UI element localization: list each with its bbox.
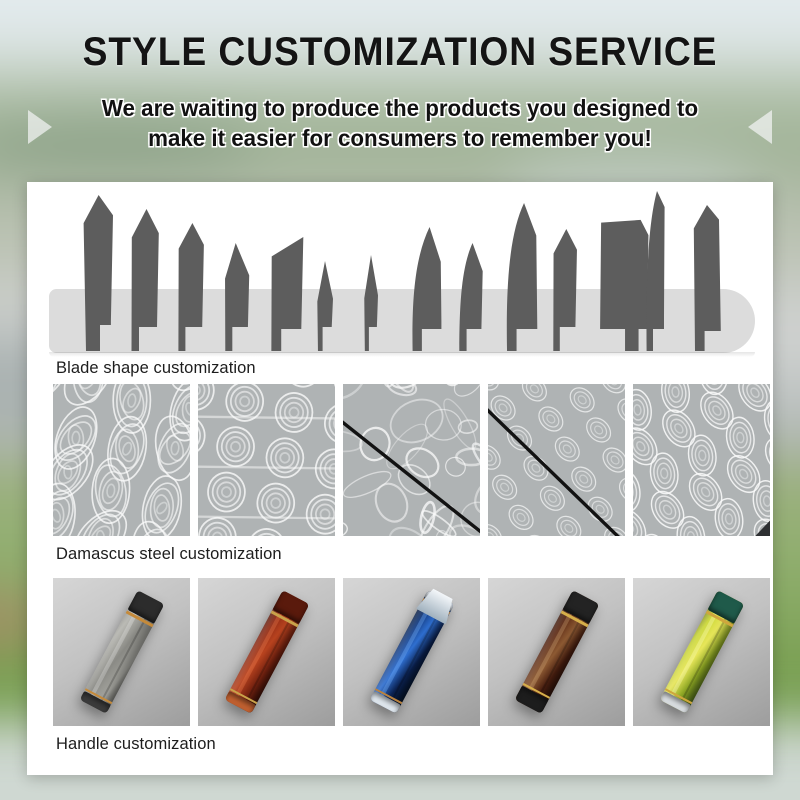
blade-shape[interactable] <box>645 191 665 351</box>
blade-shape[interactable] <box>598 213 650 351</box>
damascus-section-caption: Damascus steel customization <box>27 545 282 564</box>
blade-shape-section: Blade shape customization <box>27 182 773 378</box>
blade-shape[interactable] <box>177 223 205 351</box>
blade-shape[interactable] <box>692 205 722 351</box>
handle-tile-row <box>53 578 770 726</box>
blade-stage <box>49 190 755 353</box>
blade-section-caption: Blade shape customization <box>27 359 256 378</box>
damascus-dense-oval-rows-pattern[interactable] <box>633 384 770 536</box>
blade-shape[interactable] <box>505 203 539 351</box>
damascus-tile-row <box>53 384 770 536</box>
content-card: Blade shape customization <box>27 182 773 775</box>
handle-section: Handle customization <box>27 572 773 772</box>
damascus-steel-section: Damascus steel customization <box>27 378 773 572</box>
blade-shape[interactable] <box>130 209 160 351</box>
handle-dark-rosewood-brass-ring[interactable] <box>488 578 625 726</box>
blade-shape[interactable] <box>317 261 333 351</box>
damascus-swirl-diagonal-pattern[interactable] <box>343 384 480 536</box>
handle-grey-wood-black-cap[interactable] <box>53 578 190 726</box>
page-title: STYLE CUSTOMIZATION SERVICE <box>28 30 772 75</box>
play-triangle-right-icon <box>28 110 52 144</box>
handle-blue-swirl-resin-bolster[interactable] <box>343 578 480 726</box>
handle-section-caption: Handle customization <box>27 735 216 754</box>
damascus-raindrop-oval-pattern[interactable] <box>53 384 190 536</box>
play-triangle-left-icon <box>748 110 772 144</box>
page-subtitle: We are waiting to produce the products y… <box>77 93 723 153</box>
blade-shape[interactable] <box>364 255 378 351</box>
blade-shape[interactable] <box>270 237 304 351</box>
blade-shape[interactable] <box>224 243 250 351</box>
header: STYLE CUSTOMIZATION SERVICE We are waiti… <box>0 0 800 180</box>
damascus-concentric-circles-pattern[interactable] <box>198 384 335 536</box>
blade-shape[interactable] <box>458 243 484 351</box>
blade-shape[interactable] <box>83 195 113 351</box>
blade-shape[interactable] <box>411 227 443 351</box>
handle-red-burl-resin[interactable] <box>198 578 335 726</box>
handle-green-yellow-resin[interactable] <box>633 578 770 726</box>
damascus-fine-grid-diagonal-pattern[interactable] <box>488 384 625 536</box>
blade-shape[interactable] <box>552 229 578 351</box>
